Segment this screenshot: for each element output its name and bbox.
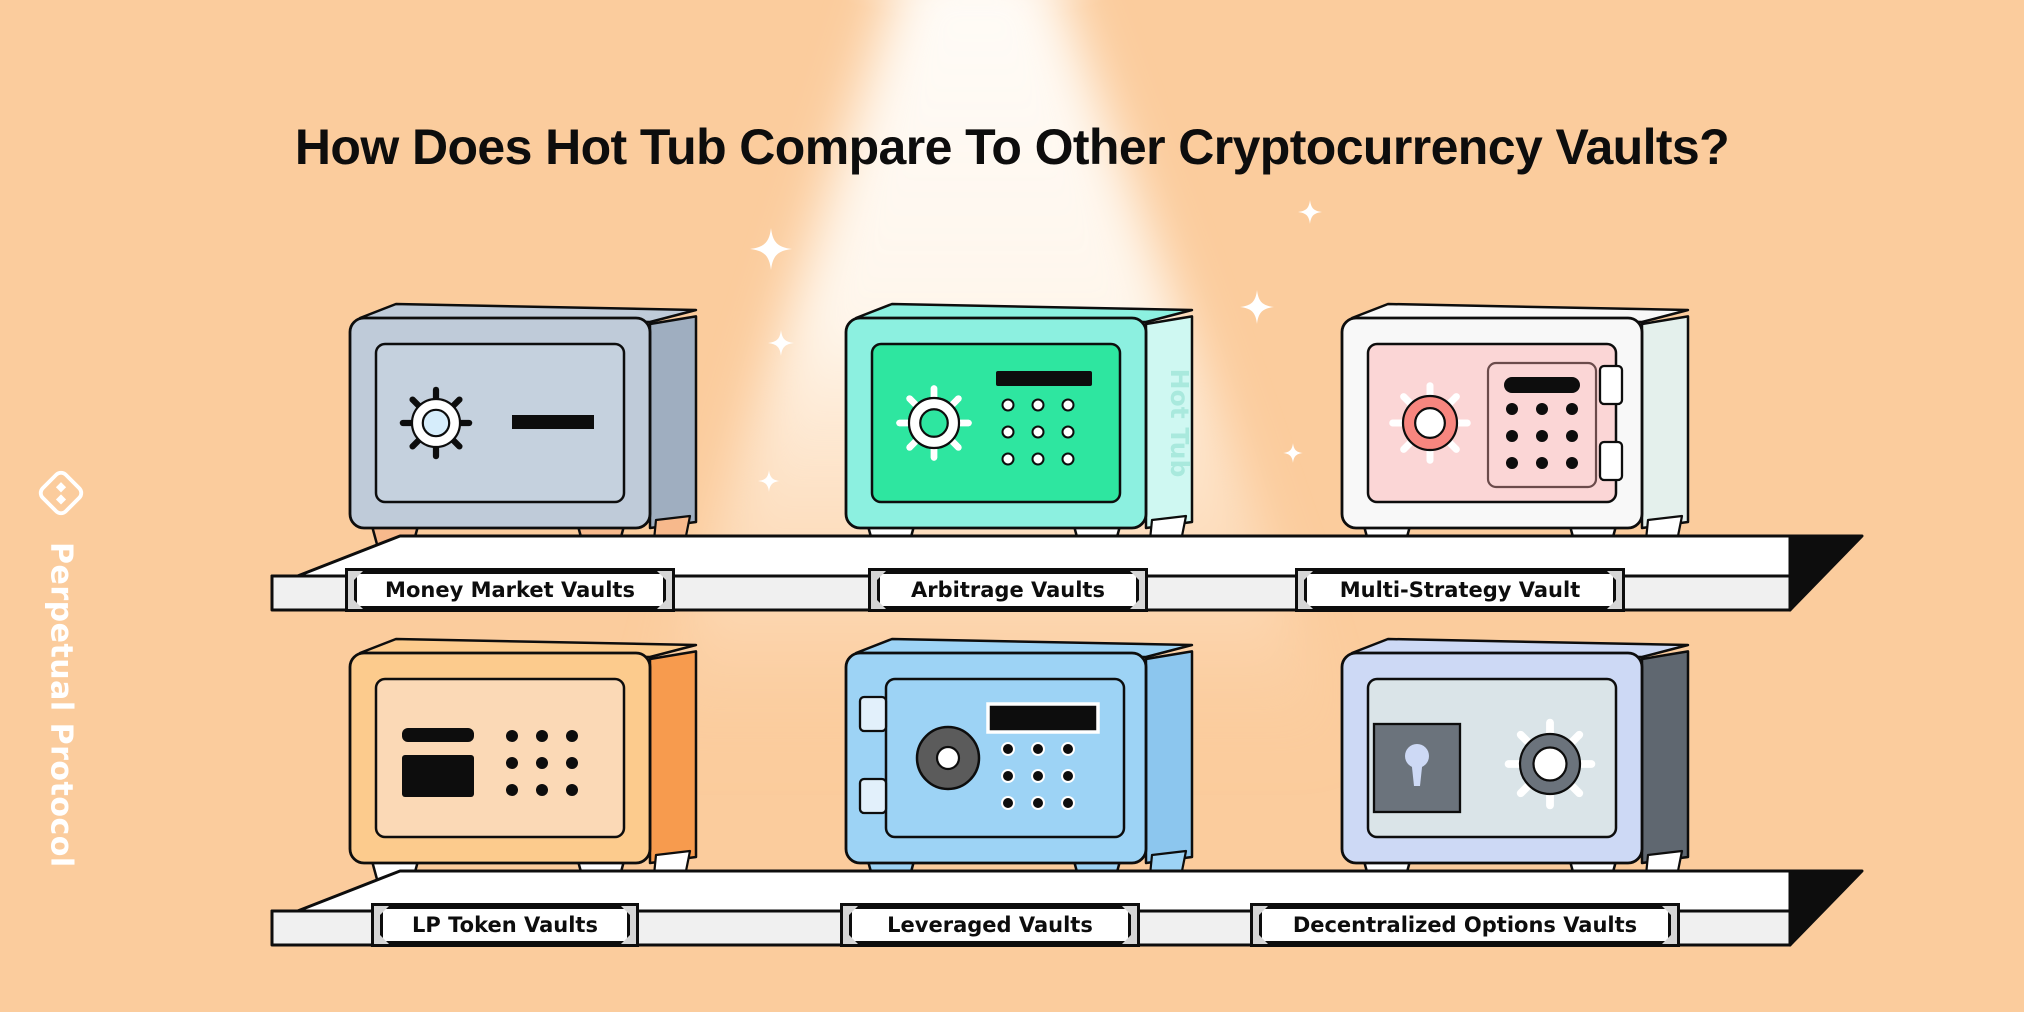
vault-label-plate[interactable]: Arbitrage Vaults [868, 568, 1148, 612]
safe-multi-strategy[interactable] [1336, 300, 1706, 535]
vault-label-text: Arbitrage Vaults [877, 571, 1139, 609]
infographic-canvas: Perpetual Protocol How Does Hot Tub Comp… [0, 0, 2024, 1012]
vault-label-text: Decentralized Options Vaults [1259, 906, 1671, 944]
vault-label-plate[interactable]: Multi-Strategy Vault [1295, 568, 1625, 612]
page-title: How Does Hot Tub Compare To Other Crypto… [0, 118, 2024, 176]
svg-text:Hot Tub: Hot Tub [1165, 369, 1194, 478]
safe-arbitrage-hot-tub[interactable]: Hot Tub [840, 300, 1210, 535]
safe-decentralized-options[interactable] [1336, 635, 1706, 870]
safe-lp-token[interactable] [344, 635, 714, 870]
vault-label-plate[interactable]: Money Market Vaults [345, 568, 675, 612]
vault-label-text: Money Market Vaults [354, 571, 666, 609]
four-point-star-sparkle-icon [1298, 200, 1322, 224]
vault-label-text: LP Token Vaults [380, 906, 630, 944]
vault-label-plate[interactable]: Decentralized Options Vaults [1250, 903, 1680, 947]
vault-label-plate[interactable]: Leveraged Vaults [840, 903, 1140, 947]
four-point-star-sparkle-icon [750, 228, 792, 270]
safe-leveraged[interactable] [840, 635, 1210, 870]
vault-label-text: Leveraged Vaults [849, 906, 1131, 944]
safe-money-market[interactable] [344, 300, 714, 535]
vault-row-top: Hot Tub Money Market VaultsArbitrage Vau… [0, 300, 2024, 630]
vault-label-text: Multi-Strategy Vault [1304, 571, 1616, 609]
vault-row-bottom: LP Token VaultsLeveraged VaultsDecentral… [0, 635, 2024, 965]
vault-label-plate[interactable]: LP Token Vaults [371, 903, 639, 947]
